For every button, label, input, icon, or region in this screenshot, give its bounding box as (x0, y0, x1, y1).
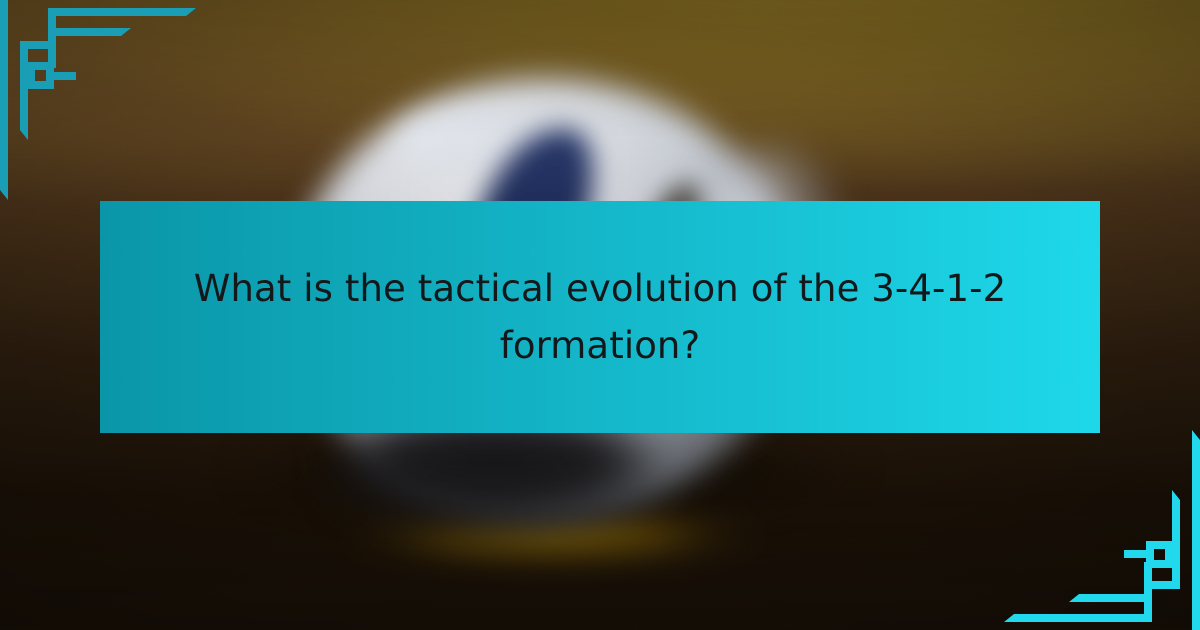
page-title: What is the tactical evolution of the 3-… (152, 260, 1048, 375)
bracket-strokes-top-left (0, 0, 196, 200)
headline-banner: What is the tactical evolution of the 3-… (100, 201, 1100, 433)
bracket-strokes-bottom-right (1004, 430, 1200, 630)
corner-bracket-top-left (0, 0, 210, 215)
corner-bracket-bottom-right (990, 415, 1200, 630)
question-card: What is the tactical evolution of the 3-… (0, 0, 1200, 630)
